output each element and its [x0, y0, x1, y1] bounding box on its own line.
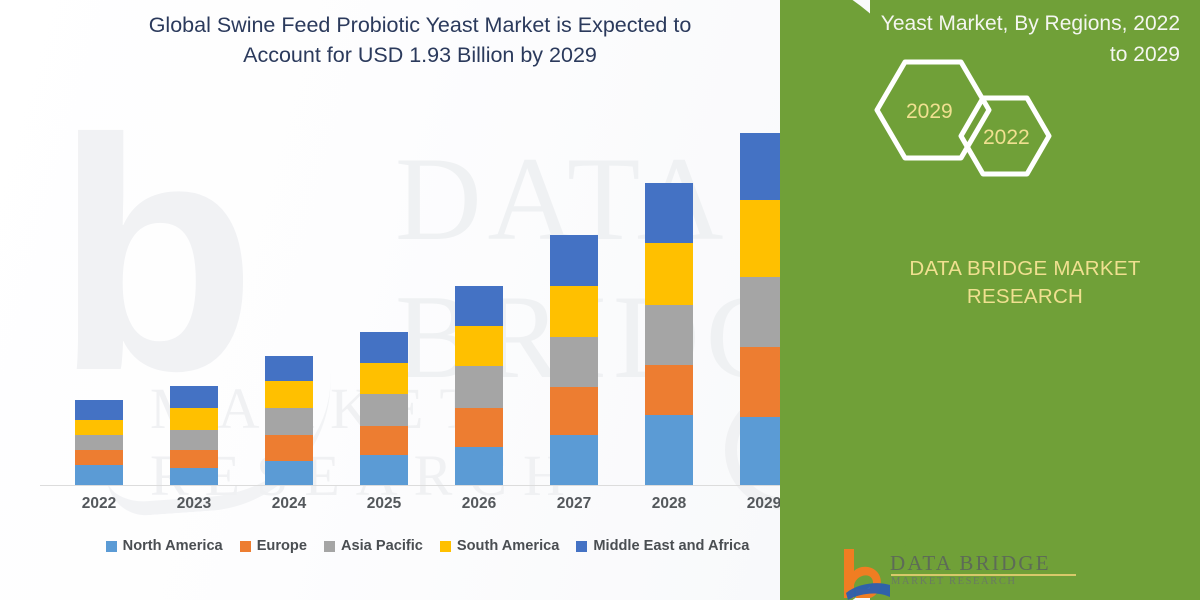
chart-pane: b DATA BRIDGE MARKET RESEARCH Global Swi…	[0, 0, 900, 600]
bar-2023	[170, 386, 218, 485]
bar-segment-2024-asia-pacific	[265, 408, 313, 435]
x-axis-tick-2027: 2027	[539, 495, 609, 513]
legend-item-north-america[interactable]: North America	[106, 538, 223, 554]
legend-swatch-icon	[576, 541, 587, 552]
bar-segment-2027-asia-pacific	[550, 337, 598, 387]
bar-segment-2028-south-america	[645, 243, 693, 305]
chart-title-line-1: Global Swine Feed Probiotic Yeast Market…	[70, 10, 770, 40]
bar-segment-2023-europe	[170, 450, 218, 468]
legend-swatch-icon	[240, 541, 251, 552]
bar-segment-2027-middle-east-and-africa	[550, 235, 598, 286]
hex-badge-2029-label: 2029	[906, 100, 953, 123]
x-axis-tick-2022: 2022	[64, 495, 134, 513]
bar-segment-2026-europe	[455, 408, 503, 447]
bar-2024	[265, 356, 313, 485]
bar-segment-2028-middle-east-and-africa	[645, 183, 693, 243]
bar-segment-2026-north-america	[455, 447, 503, 485]
bar-segment-2027-south-america	[550, 286, 598, 337]
axis-baseline	[40, 485, 800, 486]
logo-title: DATA BRIDGE	[890, 551, 1051, 576]
bar-segment-2025-north-america	[360, 455, 408, 485]
bar-segment-2023-north-america	[170, 468, 218, 485]
x-axis-tick-2023: 2023	[159, 495, 229, 513]
bar-segment-2025-south-america	[360, 363, 408, 394]
chart-title: Global Swine Feed Probiotic Yeast Market…	[70, 10, 770, 70]
bar-segment-2028-asia-pacific	[645, 305, 693, 365]
x-axis-tick-2028: 2028	[634, 495, 704, 513]
bar-segment-2023-middle-east-and-africa	[170, 386, 218, 408]
bar-segment-2024-europe	[265, 435, 313, 461]
bar-segment-2024-middle-east-and-africa	[265, 356, 313, 381]
brand-name: DATA BRIDGE MARKET RESEARCH	[860, 255, 1190, 311]
bar-segment-2024-south-america	[265, 381, 313, 408]
bar-segment-2027-north-america	[550, 435, 598, 485]
bar-segment-2022-south-america	[75, 420, 123, 435]
bar-segment-2026-middle-east-and-africa	[455, 286, 503, 326]
legend-label: North America	[123, 538, 223, 554]
legend-item-europe[interactable]: Europe	[240, 538, 307, 554]
bar-segment-2028-europe	[645, 365, 693, 415]
legend-label: South America	[457, 538, 559, 554]
bar-segment-2026-asia-pacific	[455, 366, 503, 408]
legend-label: Middle East and Africa	[593, 538, 749, 554]
bar-segment-2023-asia-pacific	[170, 430, 218, 450]
bar-2025	[360, 332, 408, 485]
data-bridge-logo: DATA BRIDGE MARKET RESEARCH	[838, 545, 1088, 600]
bar-2026	[455, 286, 503, 485]
right-green-panel: Yeast Market, By Regions, 2022 to 2029 2…	[780, 0, 1200, 600]
legend-swatch-icon	[324, 541, 335, 552]
logo-subtitle: MARKET RESEARCH	[891, 576, 1017, 587]
x-axis-tick-2026: 2026	[444, 495, 514, 513]
bar-segment-2028-north-america	[645, 415, 693, 485]
bar-segment-2022-north-america	[75, 465, 123, 485]
legend-label: Asia Pacific	[341, 538, 423, 554]
hex-badge-group: 2022 2029	[780, 0, 1200, 260]
bar-segment-2024-north-america	[265, 461, 313, 485]
bar-segment-2022-middle-east-and-africa	[75, 400, 123, 420]
legend-item-middle-east-and-africa[interactable]: Middle East and Africa	[576, 538, 749, 554]
x-axis-tick-2024: 2024	[254, 495, 324, 513]
x-axis-labels: 20222023202420252026202720282029	[40, 495, 800, 521]
bar-segment-2025-europe	[360, 426, 408, 455]
brand-name-line-1: DATA BRIDGE MARKET	[860, 255, 1190, 283]
bar-segment-2022-asia-pacific	[75, 435, 123, 450]
x-axis-tick-2025: 2025	[349, 495, 419, 513]
legend-item-asia-pacific[interactable]: Asia Pacific	[324, 538, 423, 554]
bar-segment-2025-middle-east-and-africa	[360, 332, 408, 363]
legend-item-south-america[interactable]: South America	[440, 538, 559, 554]
chart-title-line-2: Account for USD 1.93 Billion by 2029	[70, 40, 770, 70]
bar-segment-2022-europe	[75, 450, 123, 465]
legend-swatch-icon	[440, 541, 451, 552]
stacked-bar-plot	[40, 100, 800, 486]
legend-label: Europe	[257, 538, 307, 554]
bar-segment-2026-south-america	[455, 326, 503, 366]
chart-legend: North AmericaEuropeAsia PacificSouth Ame…	[40, 538, 815, 554]
infographic-page: b DATA BRIDGE MARKET RESEARCH Global Swi…	[0, 0, 1200, 600]
bar-segment-2025-asia-pacific	[360, 394, 408, 426]
bar-2027	[550, 235, 598, 485]
logo-mark-icon	[838, 545, 890, 600]
legend-swatch-icon	[106, 541, 117, 552]
bar-2028	[645, 183, 693, 485]
hex-badge-2022-label: 2022	[983, 126, 1030, 149]
bar-2022	[75, 400, 123, 485]
bar-segment-2023-south-america	[170, 408, 218, 430]
bar-segment-2027-europe	[550, 387, 598, 435]
brand-name-line-2: RESEARCH	[860, 283, 1190, 311]
